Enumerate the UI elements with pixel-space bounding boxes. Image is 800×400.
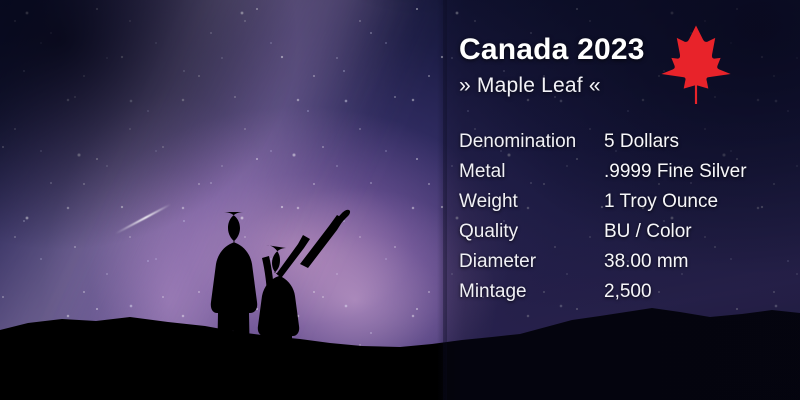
spec-label: Mintage [459, 281, 604, 303]
table-row: Mintage 2,500 [459, 281, 789, 311]
specifications-table: Denomination 5 Dollars Metal .9999 Fine … [459, 131, 789, 311]
spec-value: BU / Color [604, 221, 692, 243]
table-row: Metal .9999 Fine Silver [459, 161, 789, 191]
spec-value: 38.00 mm [604, 251, 688, 273]
table-row: Denomination 5 Dollars [459, 131, 789, 161]
spec-label: Quality [459, 221, 604, 243]
maple-leaf-icon [657, 24, 735, 104]
coin-product-card: Canada 2023 » Maple Leaf « Denomination … [0, 0, 800, 400]
spec-label: Denomination [459, 131, 604, 153]
spec-value: .9999 Fine Silver [604, 161, 747, 183]
table-row: Quality BU / Color [459, 221, 789, 251]
spec-label: Weight [459, 191, 604, 213]
page-subtitle: » Maple Leaf « [459, 74, 601, 98]
spec-value: 2,500 [604, 281, 652, 303]
spec-label: Metal [459, 161, 604, 183]
spec-value: 1 Troy Ounce [604, 191, 718, 213]
table-row: Weight 1 Troy Ounce [459, 191, 789, 221]
table-row: Diameter 38.00 mm [459, 251, 789, 281]
spec-label: Diameter [459, 251, 604, 273]
spec-value: 5 Dollars [604, 131, 679, 153]
page-title: Canada 2023 [459, 33, 645, 67]
